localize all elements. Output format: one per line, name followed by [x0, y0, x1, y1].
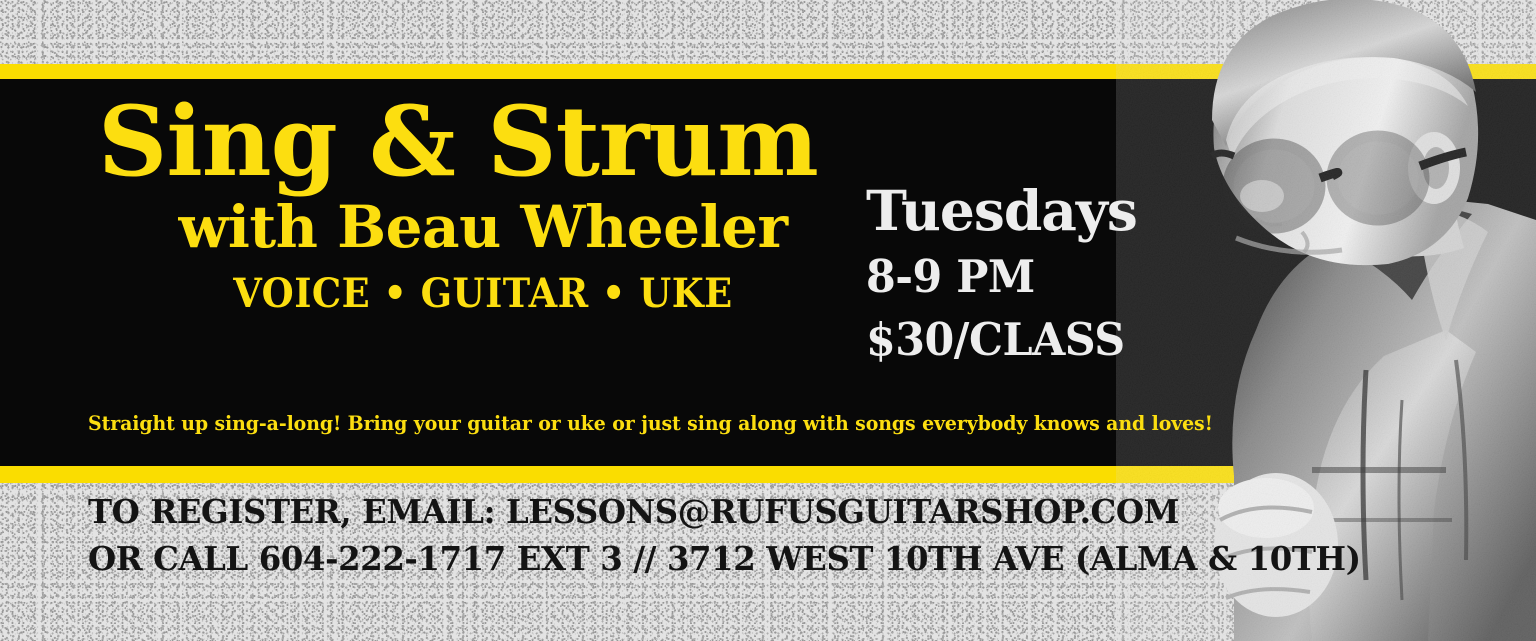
schedule-day: Tuesdays [866, 183, 1138, 238]
schedule-block: Tuesdays 8-9 PM $30/CLASS [866, 183, 1138, 362]
headline-subtitle: with Beau Wheeler [88, 198, 878, 256]
headline-block: Sing & Strum with Beau Wheeler VOICE • G… [88, 96, 878, 314]
schedule-price: $30/CLASS [866, 317, 1125, 362]
contact-email-line: TO REGISTER, EMAIL: LESSONS@RUFUSGUITARS… [88, 495, 1361, 528]
tagline-text: Straight up sing-a-long! Bring your guit… [88, 412, 1213, 435]
schedule-time: 8-9 PM [866, 254, 1125, 299]
contact-phone-address-line: OR CALL 604-222-1717 EXT 3 // 3712 WEST … [88, 542, 1361, 575]
contact-block: TO REGISTER, EMAIL: LESSONS@RUFUSGUITARS… [88, 495, 1387, 575]
instruments-list: VOICE • GUITAR • UKE [120, 274, 847, 314]
page-title: Sing & Strum [88, 96, 878, 188]
promo-banner: Sing & Strum with Beau Wheeler VOICE • G… [0, 0, 1536, 641]
